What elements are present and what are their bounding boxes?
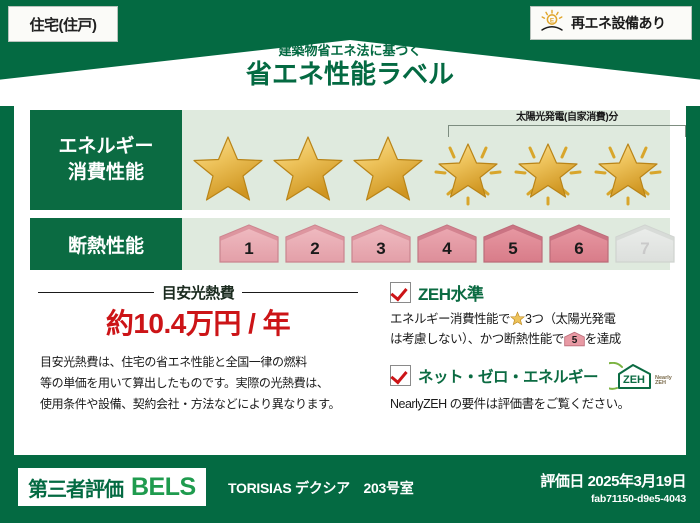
- insulation-label: 断熱性能: [68, 231, 144, 258]
- insulation-performance-row: 断熱性能: [30, 218, 670, 270]
- star-icon: [350, 132, 426, 206]
- insulation-level-number: 4: [416, 239, 478, 259]
- bels-certification-box: 第三者評価 BELS: [18, 468, 206, 506]
- star-icon: [270, 132, 346, 206]
- renewable-badge-label: 再エネ設備あり: [571, 13, 666, 33]
- insulation-badge-icon: 5: [564, 331, 585, 347]
- zeh-section: ZEH水準 エネルギー消費性能で 3つ（太陽光発電 は考慮しない）、かつ断熱性能…: [390, 280, 676, 426]
- building-name: TORISIAS デクシア 203号室: [228, 478, 413, 498]
- solar-sun-icon: E: [539, 9, 565, 38]
- star-rating: [190, 132, 666, 206]
- cost-note: 目安光熱費は、住宅の省エネ性能と全国一律の燃料 等の単価を用いて算出したものです…: [40, 352, 370, 415]
- house-type-tag: 住宅(住戸): [8, 6, 118, 42]
- house-type-label: 住宅(住戸): [30, 14, 97, 35]
- footer-bar: 第三者評価 BELS TORISIAS デクシア 203号室 評価日 2025年…: [0, 462, 700, 523]
- zeh-body-part-d: を達成: [585, 332, 621, 346]
- checkmark-icon: [390, 365, 411, 386]
- header-wedge: [0, 40, 700, 106]
- insulation-badge-number: 5: [564, 331, 585, 347]
- evaluation-id: fab71150-d9e5-4043: [540, 493, 686, 505]
- net-zero-body: NearlyZEH の要件は評価書をご覧ください。: [390, 394, 676, 414]
- zeh-body-part-c: は考慮しない）、かつ断熱性能で: [390, 332, 564, 346]
- cost-rule-left: [38, 292, 154, 294]
- insulation-label-box: 断熱性能: [30, 218, 182, 270]
- insulation-level-number: 5: [482, 239, 544, 259]
- energy-performance-row: エネルギー 消費性能 太陽光発電(自家消費)分: [30, 110, 670, 210]
- star-icon: [510, 311, 525, 326]
- insulation-level-4: 4: [416, 224, 478, 264]
- insulation-level-2: 2: [284, 224, 346, 264]
- insulation-level-scale: 1 2 3: [218, 224, 676, 264]
- zeh-logo-sub2: ZEH: [655, 381, 672, 387]
- energy-label-line1: エネルギー: [58, 134, 153, 160]
- cost-heading: 目安光熱費: [38, 282, 358, 303]
- zeh-standard-body: エネルギー消費性能で 3つ（太陽光発電 は考慮しない）、かつ断熱性能で 5 を達…: [390, 309, 676, 350]
- insulation-level-7: 7: [614, 224, 676, 264]
- zeh-body-part-a: エネルギー消費性能で: [390, 312, 510, 326]
- star-icon: [190, 132, 266, 206]
- energy-label-line2: 消費性能: [68, 160, 144, 186]
- cost-note-line1: 目安光熱費は、住宅の省エネ性能と全国一律の燃料: [40, 352, 370, 373]
- star-solar-icon: [430, 132, 506, 206]
- insulation-level-6: 6: [548, 224, 610, 264]
- cost-rule-right: [242, 292, 358, 294]
- zeh-standard-header: ZEH水準: [390, 280, 676, 305]
- zeh-nearly-logo: ZEH Nearly ZEH: [609, 362, 672, 390]
- net-zero-energy-item: ネット・ゼロ・エネルギー ZEH Nearly ZEH NearlyZEH: [390, 362, 676, 414]
- label-card: エネルギー 消費性能 太陽光発電(自家消費)分: [14, 100, 686, 455]
- energy-performance-label-box: エネルギー 消費性能: [30, 110, 182, 210]
- svg-text:E: E: [550, 17, 555, 24]
- solar-annotation-label: 太陽光発電(自家消費)分: [448, 112, 686, 123]
- bels-logo-text: BELS: [131, 473, 196, 502]
- svg-text:ZEH: ZEH: [623, 374, 645, 386]
- insulation-level-number: 3: [350, 239, 412, 259]
- insulation-level-number: 7: [614, 239, 676, 259]
- insulation-level-5: 5: [482, 224, 544, 264]
- zeh-standard-title: ZEH水準: [418, 280, 484, 305]
- star-solar-icon: [590, 132, 666, 206]
- evaluation-info: 評価日 2025年3月19日 fab71150-d9e5-4043: [540, 470, 686, 505]
- net-zero-header: ネット・ゼロ・エネルギー ZEH Nearly ZEH: [390, 362, 676, 390]
- estimated-cost-value: 約10.4万円 / 年: [38, 302, 358, 342]
- cost-note-line3: 使用条件や設備、契約会社・方法などにより異なります。: [40, 394, 370, 415]
- insulation-level-number: 6: [548, 239, 610, 259]
- cost-note-line2: 等の単価を用いて算出したものです。実際の光熱費は、: [40, 373, 370, 394]
- third-party-eval-label: 第三者評価: [28, 473, 123, 502]
- insulation-level-3: 3: [350, 224, 412, 264]
- evaluation-date: 評価日 2025年3月19日: [540, 470, 686, 491]
- cost-heading-label: 目安光熱費: [162, 282, 235, 303]
- checkmark-icon: [390, 282, 411, 303]
- zeh-standard-item: ZEH水準 エネルギー消費性能で 3つ（太陽光発電 は考慮しない）、かつ断熱性能…: [390, 280, 676, 350]
- star-solar-icon: [510, 132, 586, 206]
- net-zero-title: ネット・ゼロ・エネルギー: [418, 365, 598, 387]
- insulation-level-number: 2: [284, 239, 346, 259]
- renewable-equipment-badge: E 再エネ設備あり: [530, 6, 692, 40]
- zeh-body-part-b: 3つ（太陽光発電: [525, 312, 615, 326]
- energy-performance-label: 住宅(住戸) E 再エネ設備あり 建築物省エネ法に基づく 省エネ性能ラベル: [0, 0, 700, 523]
- insulation-level-1: 1: [218, 224, 280, 264]
- insulation-level-number: 1: [218, 239, 280, 259]
